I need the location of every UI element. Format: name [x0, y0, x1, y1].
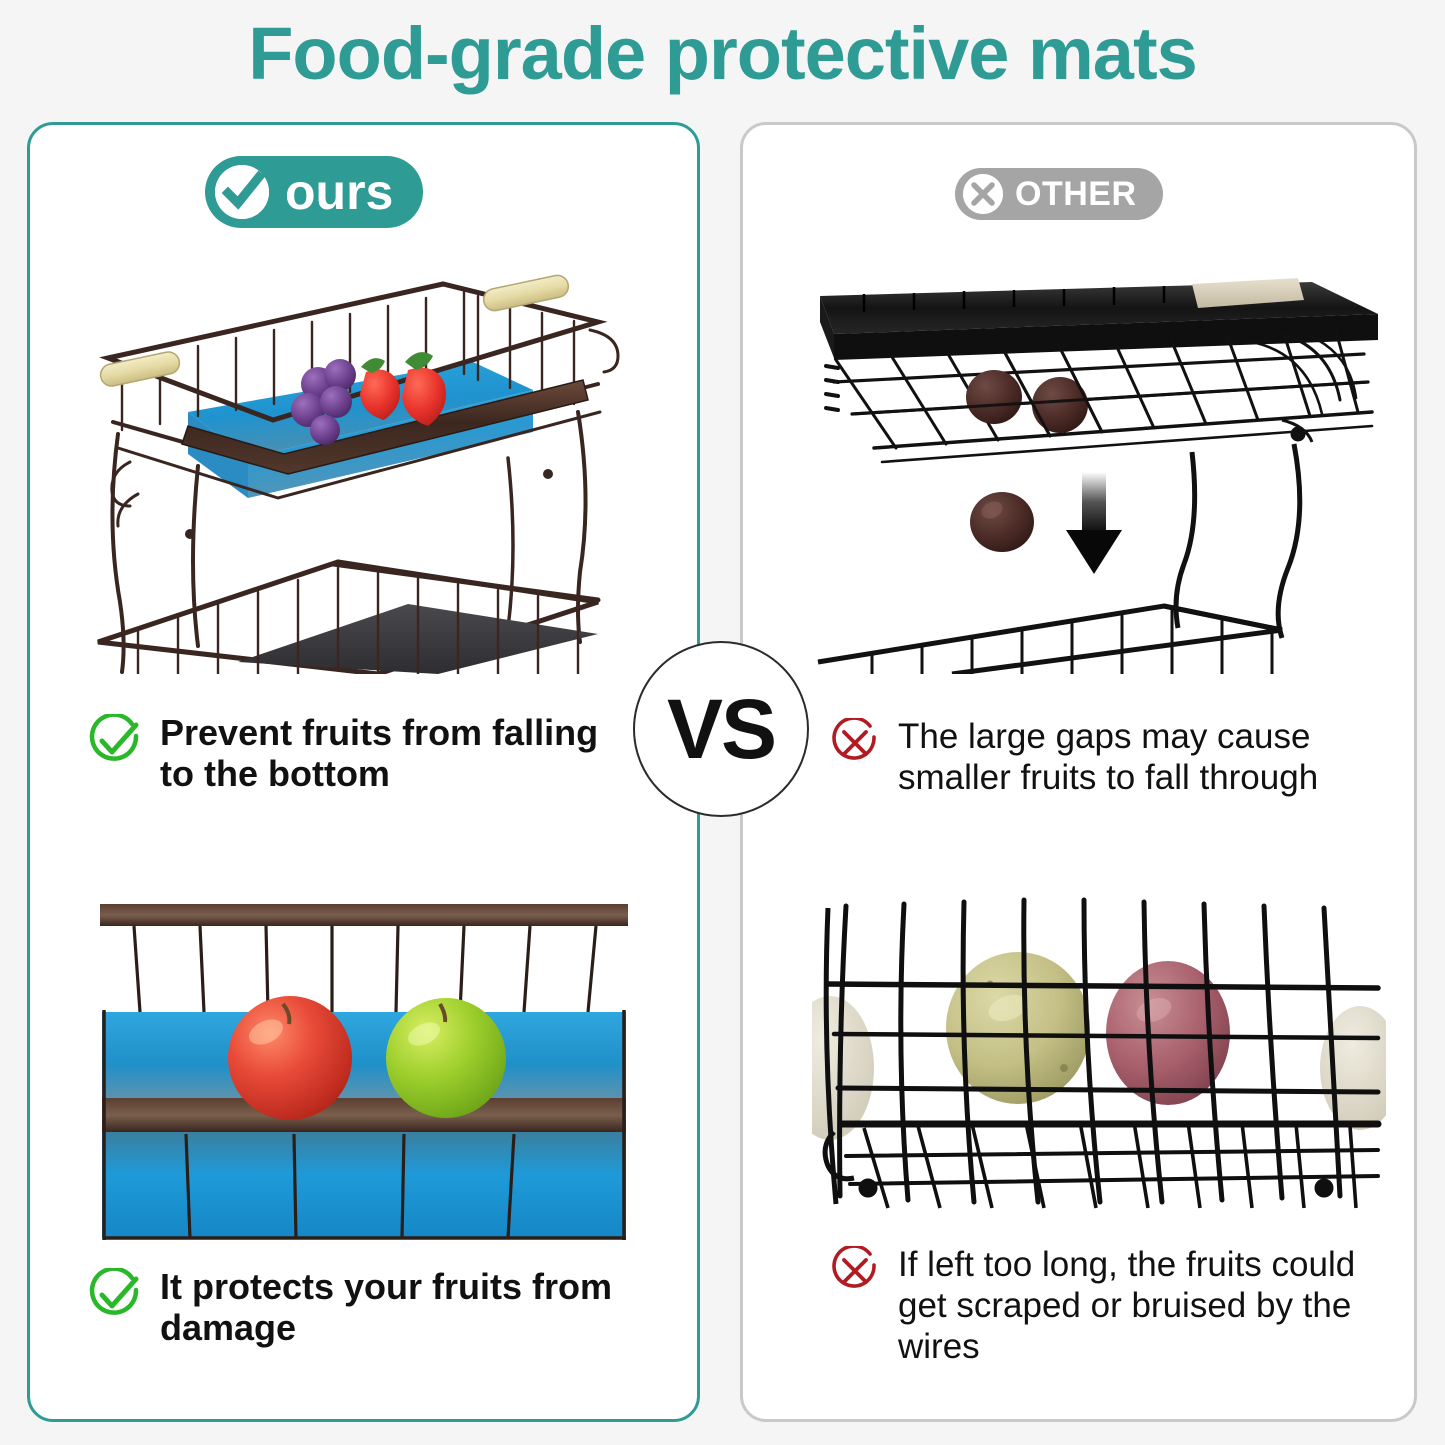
caption-ours-prevent-falling: Prevent fruits from falling to the botto…: [88, 712, 628, 794]
photo-other-gaps-falling: [812, 262, 1386, 674]
caption-text: It protects your fruits from damage: [160, 1266, 628, 1348]
x-circle-icon: [963, 174, 1003, 214]
caption-text: If left too long, the fruits could get s…: [898, 1244, 1375, 1367]
caption-text: The large gaps may cause smaller fruits …: [898, 716, 1375, 798]
caption-text: Prevent fruits from falling to the botto…: [160, 712, 628, 794]
badge-other: OTHER: [955, 168, 1163, 220]
photo-ours-basket-with-mat: [78, 262, 650, 674]
red-x-circle-icon: [830, 718, 880, 768]
vs-label: VS: [667, 687, 775, 771]
badge-ours: ours: [205, 156, 423, 228]
red-x-circle-icon: [830, 1246, 880, 1296]
page-title: Food-grade protective mats: [0, 4, 1445, 104]
badge-ours-label: ours: [285, 167, 393, 217]
green-check-circle-icon: [88, 1268, 142, 1322]
photo-ours-apples-on-mat: [78, 886, 650, 1246]
badge-other-label: OTHER: [1015, 177, 1137, 211]
photo-other-bruised-fruits: [812, 888, 1386, 1214]
check-circle-icon: [215, 165, 269, 219]
green-check-circle-icon: [88, 714, 142, 768]
caption-ours-protects-fruits: It protects your fruits from damage: [88, 1266, 628, 1348]
vs-badge: VS: [633, 641, 809, 817]
caption-other-bruised: If left too long, the fruits could get s…: [830, 1244, 1375, 1367]
caption-other-large-gaps: The large gaps may cause smaller fruits …: [830, 716, 1375, 798]
